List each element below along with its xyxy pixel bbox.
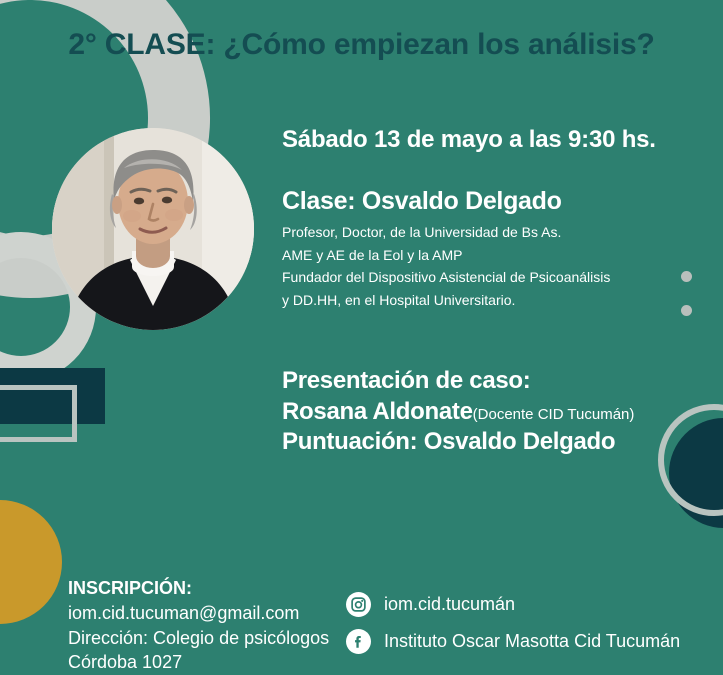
case-presenter: Rosana Aldonate(Docente CID Tucumán) xyxy=(282,397,702,428)
case-presenter-role: (Docente CID Tucumán) xyxy=(473,406,635,423)
poster-root: 2° CLASE: ¿Cómo empiezan los análisis? S… xyxy=(0,0,723,675)
social-links-block: iom.cid.tucumán Instituto Oscar Masotta … xyxy=(346,586,680,660)
case-score-line: Puntuación: Osvaldo Delgado xyxy=(282,427,702,458)
case-presentation-block: Presentación de caso: Rosana Aldonate(Do… xyxy=(282,366,702,458)
event-details-block: Sábado 13 de mayo a las 9:30 hs. Clase: … xyxy=(282,126,702,312)
poster-content: 2° CLASE: ¿Cómo empiezan los análisis? S… xyxy=(0,0,723,675)
inscription-address-line-1: Dirección: Colegio de psicólogos xyxy=(68,626,358,651)
social-row-instagram[interactable]: iom.cid.tucumán xyxy=(346,586,680,623)
speaker-credentials: Profesor, Doctor, de la Universidad de B… xyxy=(282,221,702,312)
event-datetime: Sábado 13 de mayo a las 9:30 hs. xyxy=(282,126,702,154)
inscription-label: INSCRIPCIÓN: xyxy=(68,576,358,601)
instagram-icon[interactable] xyxy=(346,592,371,617)
page-title: 2° CLASE: ¿Cómo empiezan los análisis? xyxy=(0,28,723,62)
credential-line: Profesor, Doctor, de la Universidad de B… xyxy=(282,221,702,244)
class-speaker-line: Clase: Osvaldo Delgado xyxy=(282,188,702,216)
case-presenter-name: Rosana Aldonate xyxy=(282,398,473,425)
credential-line: y DD.HH, en el Hospital Universitario. xyxy=(282,289,702,312)
case-heading: Presentación de caso: xyxy=(282,366,702,397)
instagram-handle[interactable]: iom.cid.tucumán xyxy=(384,594,515,615)
inscription-address-line-2: Córdoba 1027 xyxy=(68,650,358,675)
credential-line: AME y AE de la Eol y la AMP xyxy=(282,244,702,267)
credential-line: Fundador del Dispositivo Asistencial de … xyxy=(282,266,702,289)
social-row-facebook[interactable]: Instituto Oscar Masotta Cid Tucumán xyxy=(346,623,680,660)
facebook-icon[interactable] xyxy=(346,629,371,654)
facebook-page-name[interactable]: Instituto Oscar Masotta Cid Tucumán xyxy=(384,631,680,652)
inscription-email[interactable]: iom.cid.tucuman@gmail.com xyxy=(68,601,358,626)
inscription-block: INSCRIPCIÓN: iom.cid.tucuman@gmail.com D… xyxy=(68,576,358,675)
